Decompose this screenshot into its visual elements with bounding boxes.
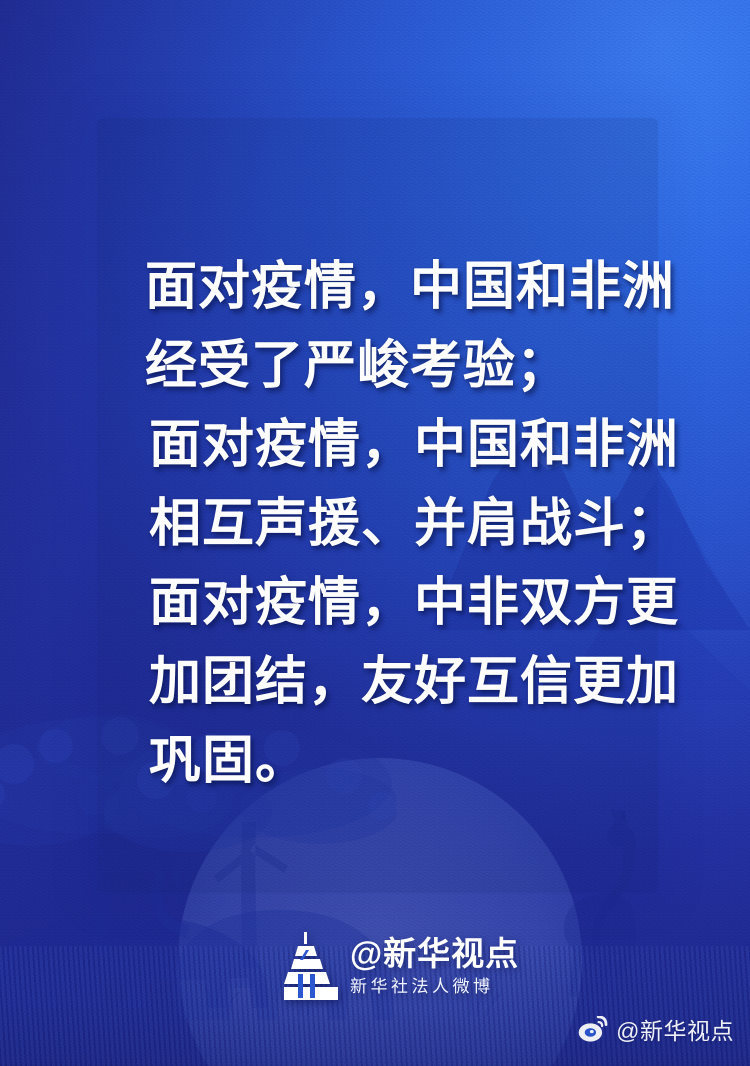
texture-noise-overlay: [0, 0, 750, 1066]
poster-canvas: 面对疫情，中国和非洲 经受了严峻考验； 面对疫情，中国和非洲 相互声援、并肩战斗…: [0, 0, 750, 1066]
